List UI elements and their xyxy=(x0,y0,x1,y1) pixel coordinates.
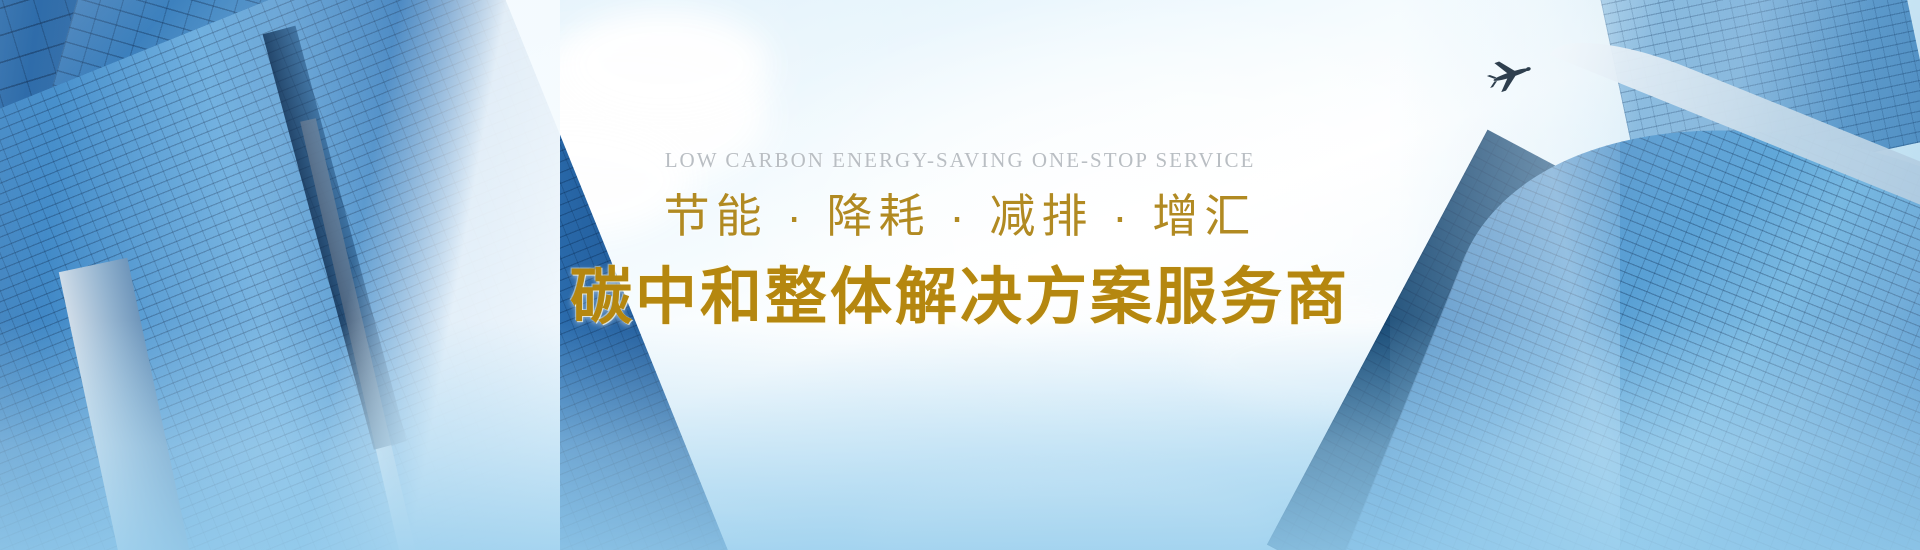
banner-eyebrow: LOW CARBON ENERGY-SAVING ONE-STOP SERVIC… xyxy=(0,150,1920,171)
cloud-bottom-center xyxy=(860,470,1280,550)
cloud-wisp-3 xyxy=(521,466,819,533)
sky-bottom-gradient xyxy=(0,320,1920,550)
cloud-wisp-5 xyxy=(560,507,819,550)
banner-headline: 碳中和整体解决方案服务商 xyxy=(0,267,1920,329)
airplane-icon xyxy=(1480,52,1542,96)
banner-copy: LOW CARBON ENERGY-SAVING ONE-STOP SERVIC… xyxy=(0,150,1920,329)
cloud-cumulus-upper xyxy=(560,10,770,120)
hero-banner: LOW CARBON ENERGY-SAVING ONE-STOP SERVIC… xyxy=(0,0,1920,550)
banner-subhead: 节能 · 降耗 · 减排 · 增汇 xyxy=(0,193,1920,239)
